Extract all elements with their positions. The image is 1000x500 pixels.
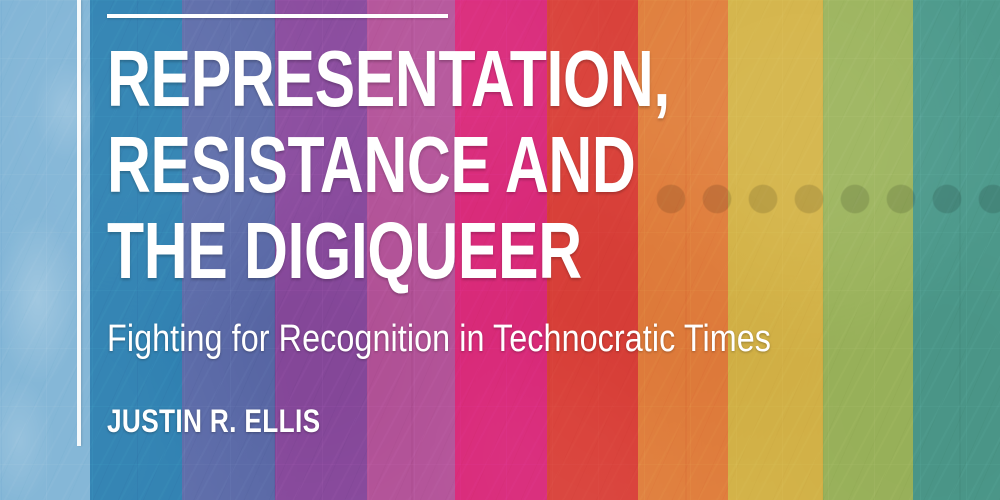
title-line-1: REPRESENTATION, (107, 36, 745, 122)
left-vertical-rule (77, 0, 81, 446)
author-name: JUSTIN R. ELLIS (107, 404, 796, 438)
cover-subtitle: Fighting for Recognition in Technocratic… (107, 318, 821, 360)
top-horizontal-rule (107, 14, 448, 18)
title-line-3: THE DIGIQUEER (107, 208, 745, 294)
cover-text-block: REPRESENTATION, RESISTANCE AND THE DIGIQ… (107, 36, 947, 438)
title-line-2: RESISTANCE AND (107, 122, 745, 208)
book-cover-banner: REPRESENTATION, RESISTANCE AND THE DIGIQ… (0, 0, 1000, 500)
